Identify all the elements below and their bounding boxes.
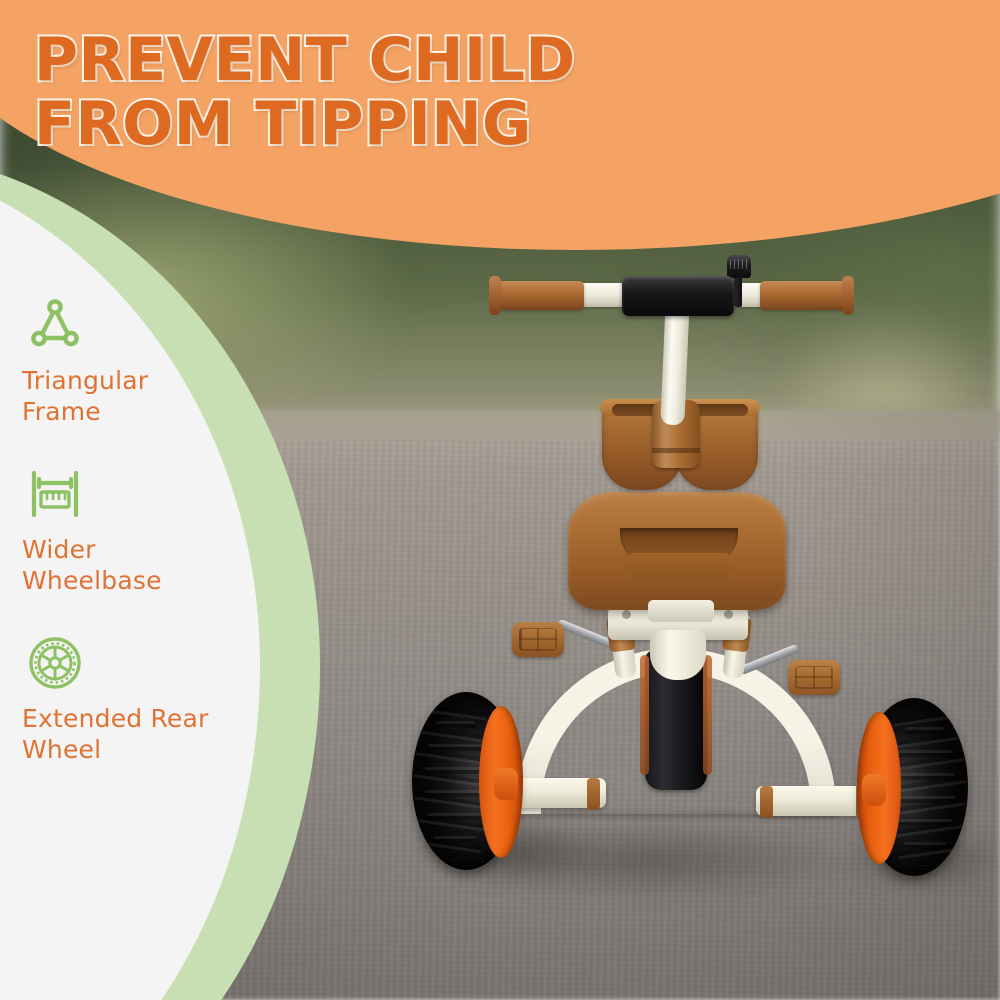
feature-item-triangular-frame: Triangular Frame (22, 296, 232, 427)
bell-mount (734, 275, 742, 307)
headline-line-2: FROM TIPPING (34, 92, 674, 156)
steering-stem-collar-seam (652, 448, 700, 453)
right-rear-wheel-chevron (895, 711, 955, 866)
product-feature-poster: PREVENT CHILD FROM TIPPING Triangular Fr… (0, 0, 1000, 1000)
wheelbase-measure-icon (26, 465, 84, 523)
handlebar-grip-left (494, 281, 584, 310)
left-rear-wheel-chevron (425, 705, 485, 860)
right-pedal-tread (795, 666, 833, 689)
front-fender-edge-left (640, 655, 649, 775)
handlebar-center-pad (622, 276, 734, 316)
triangular-frame-icon (26, 296, 84, 354)
headline-line-1: PREVENT CHILD (34, 28, 674, 92)
feature-item-wider-wheelbase: Wider Wheelbase (22, 465, 232, 596)
seat-inner-pad (628, 553, 730, 579)
bracket-bolt-right (724, 610, 733, 619)
feature-label-wider-wheelbase: Wider Wheelbase (22, 535, 218, 596)
front-fender-edge-right (703, 655, 712, 775)
feature-label-extended-rear-wheel: Extended Rear Wheel (22, 704, 218, 765)
bell-ribs (730, 259, 748, 269)
handlebar-grip-right-cap (842, 276, 854, 315)
left-rear-hub-cap (494, 768, 518, 800)
handlebar-grip-left-cap (489, 276, 501, 315)
left-axle-collar-inner (587, 778, 600, 810)
feature-list: Triangular Frame (22, 296, 232, 765)
right-rear-hub-cap (862, 774, 886, 806)
bracket-center-stub (650, 630, 706, 680)
right-axle-collar-inner (760, 786, 773, 818)
bracket-bolt-left (622, 610, 631, 619)
wheel-icon (26, 634, 84, 692)
feature-item-extended-rear-wheel: Extended Rear Wheel (22, 634, 232, 765)
seat-post (648, 600, 714, 622)
left-pedal-tread (519, 628, 557, 651)
handlebar-grip-right (760, 281, 850, 310)
feature-label-triangular-frame: Triangular Frame (22, 366, 218, 427)
page-title: PREVENT CHILD FROM TIPPING (34, 28, 674, 156)
